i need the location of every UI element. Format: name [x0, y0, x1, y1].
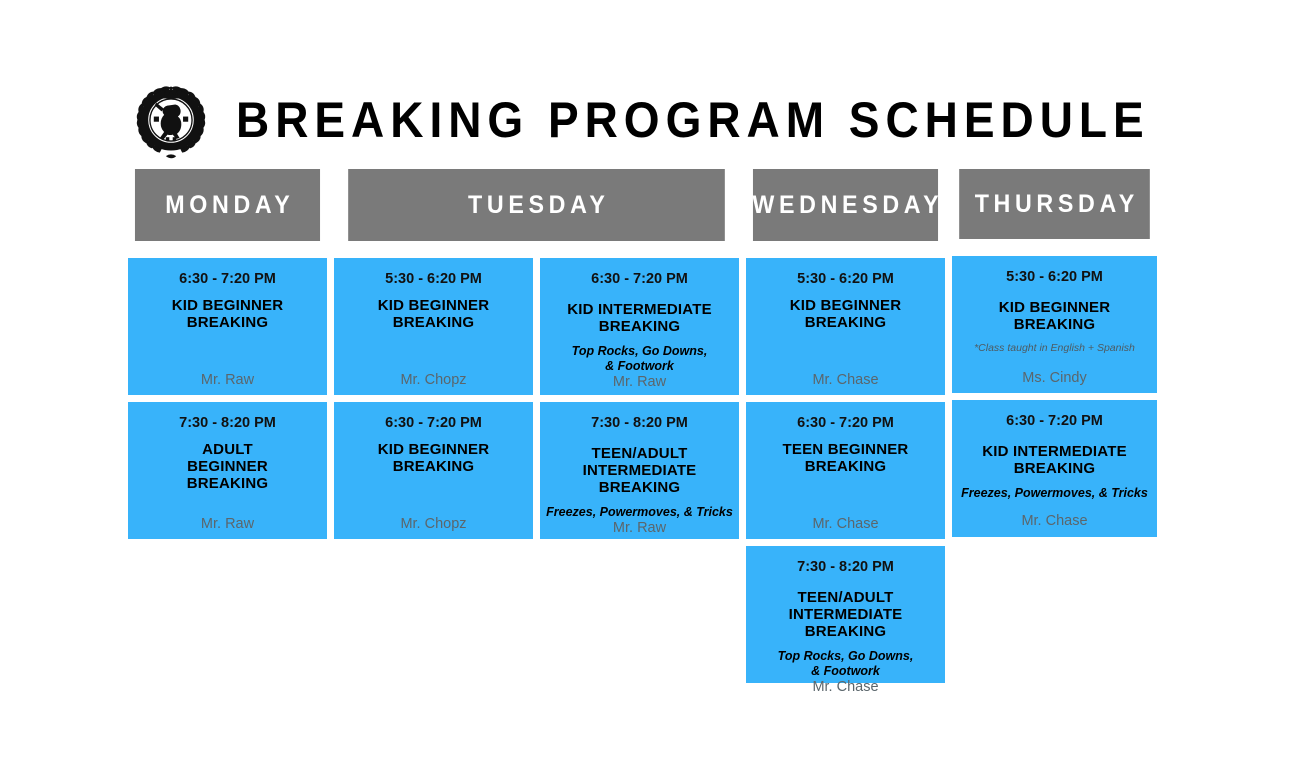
page-header: BREAKING PROGRAM SCHEDULE: [128, 74, 1229, 166]
class-card[interactable]: 7:30 - 8:20 PM TEEN/ADULT INTERMEDIATE B…: [540, 402, 739, 539]
day-header-tuesday: TUESDAY: [348, 169, 725, 241]
class-instructor: Mr. Chase: [812, 516, 878, 533]
class-time: 6:30 - 7:20 PM: [385, 415, 482, 432]
class-card[interactable]: 5:30 - 6:20 PM KID BEGINNER BREAKING Mr.…: [334, 258, 533, 395]
class-card[interactable]: 6:30 - 7:20 PM KID INTERMEDIATE BREAKING…: [540, 258, 739, 395]
page-title: BREAKING PROGRAM SCHEDULE: [236, 95, 1150, 145]
class-description: Freezes, Powermoves, & Tricks: [940, 486, 1170, 501]
class-instructor: Ms. Cindy: [1022, 370, 1086, 387]
class-description: Top Rocks, Go Downs, & Footwork: [731, 649, 961, 679]
class-instructor: Mr. Chase: [1021, 513, 1087, 530]
class-title: KID INTERMEDIATE BREAKING: [567, 301, 712, 336]
class-title: TEEN BEGINNER BREAKING: [783, 441, 909, 476]
class-card[interactable]: 6:30 - 7:20 PM TEEN BEGINNER BREAKING Mr…: [746, 402, 945, 539]
class-card[interactable]: 7:30 - 8:20 PM ADULT BEGINNER BREAKING M…: [128, 402, 327, 539]
class-title: TEEN/ADULT INTERMEDIATE BREAKING: [789, 589, 903, 641]
class-title: KID BEGINNER BREAKING: [999, 299, 1111, 334]
day-header-thursday: THURSDAY: [959, 169, 1150, 239]
class-instructor: Mr. Raw: [201, 516, 254, 533]
class-card[interactable]: 5:30 - 6:20 PM KID BEGINNER BREAKING *Cl…: [952, 256, 1157, 393]
schedule-grid: MONDAY 6:30 - 7:20 PM KID BEGINNER BREAK…: [128, 169, 1158, 683]
class-time: 6:30 - 7:20 PM: [797, 415, 894, 432]
day-header-monday: MONDAY: [135, 169, 320, 241]
class-time: 7:30 - 8:20 PM: [797, 559, 894, 576]
class-card[interactable]: 6:30 - 7:20 PM KID BEGINNER BREAKING Mr.…: [128, 258, 327, 395]
day-column-monday: MONDAY 6:30 - 7:20 PM KID BEGINNER BREAK…: [128, 169, 327, 539]
class-title: KID INTERMEDIATE BREAKING: [982, 443, 1127, 478]
class-instructor: Mr. Chopz: [400, 516, 466, 533]
class-title: ADULT BEGINNER BREAKING: [187, 441, 269, 493]
class-title: KID BEGINNER BREAKING: [378, 441, 490, 476]
class-instructor: Mr. Raw: [613, 520, 666, 537]
class-instructor: Mr. Chopz: [400, 372, 466, 389]
class-description: Top Rocks, Go Downs, & Footwork: [525, 344, 755, 374]
class-time: 5:30 - 6:20 PM: [385, 271, 482, 288]
day-header-wednesday: WEDNESDAY: [753, 169, 938, 241]
class-instructor: Mr. Chase: [812, 679, 878, 696]
class-title: KID BEGINNER BREAKING: [378, 297, 490, 332]
class-card[interactable]: 6:30 - 7:20 PM KID BEGINNER BREAKING Mr.…: [334, 402, 533, 539]
class-card[interactable]: 6:30 - 7:20 PM KID INTERMEDIATE BREAKING…: [952, 400, 1157, 537]
day-column-wednesday: WEDNESDAY 5:30 - 6:20 PM KID BEGINNER BR…: [746, 169, 945, 683]
class-title: KID BEGINNER BREAKING: [172, 297, 284, 332]
class-time: 6:30 - 7:20 PM: [591, 271, 688, 288]
class-instructor: Mr. Raw: [613, 374, 666, 391]
class-time: 5:30 - 6:20 PM: [1006, 269, 1103, 286]
day-column-thursday: THURSDAY 5:30 - 6:20 PM KID BEGINNER BRE…: [952, 169, 1157, 537]
class-instructor: Mr. Chase: [812, 372, 878, 389]
class-description: Freezes, Powermoves, & Tricks: [525, 505, 755, 520]
class-time: 6:30 - 7:20 PM: [179, 271, 276, 288]
class-time: 7:30 - 8:20 PM: [591, 415, 688, 432]
class-card[interactable]: 5:30 - 6:20 PM KID BEGINNER BREAKING Mr.…: [746, 258, 945, 395]
class-title: TEEN/ADULT INTERMEDIATE BREAKING: [583, 445, 697, 497]
class-time: 6:30 - 7:20 PM: [1006, 413, 1103, 430]
class-time: 5:30 - 6:20 PM: [797, 271, 894, 288]
class-note: *Class taught in English + Spanish: [974, 342, 1135, 355]
class-instructor: Mr. Raw: [201, 372, 254, 389]
breaking-crest-logo-icon: [128, 77, 214, 163]
class-title: KID BEGINNER BREAKING: [790, 297, 902, 332]
class-time: 7:30 - 8:20 PM: [179, 415, 276, 432]
day-column-tuesday: TUESDAY 5:30 - 6:20 PM KID BEGINNER BREA…: [334, 169, 739, 539]
class-card[interactable]: 7:30 - 8:20 PM TEEN/ADULT INTERMEDIATE B…: [746, 546, 945, 683]
